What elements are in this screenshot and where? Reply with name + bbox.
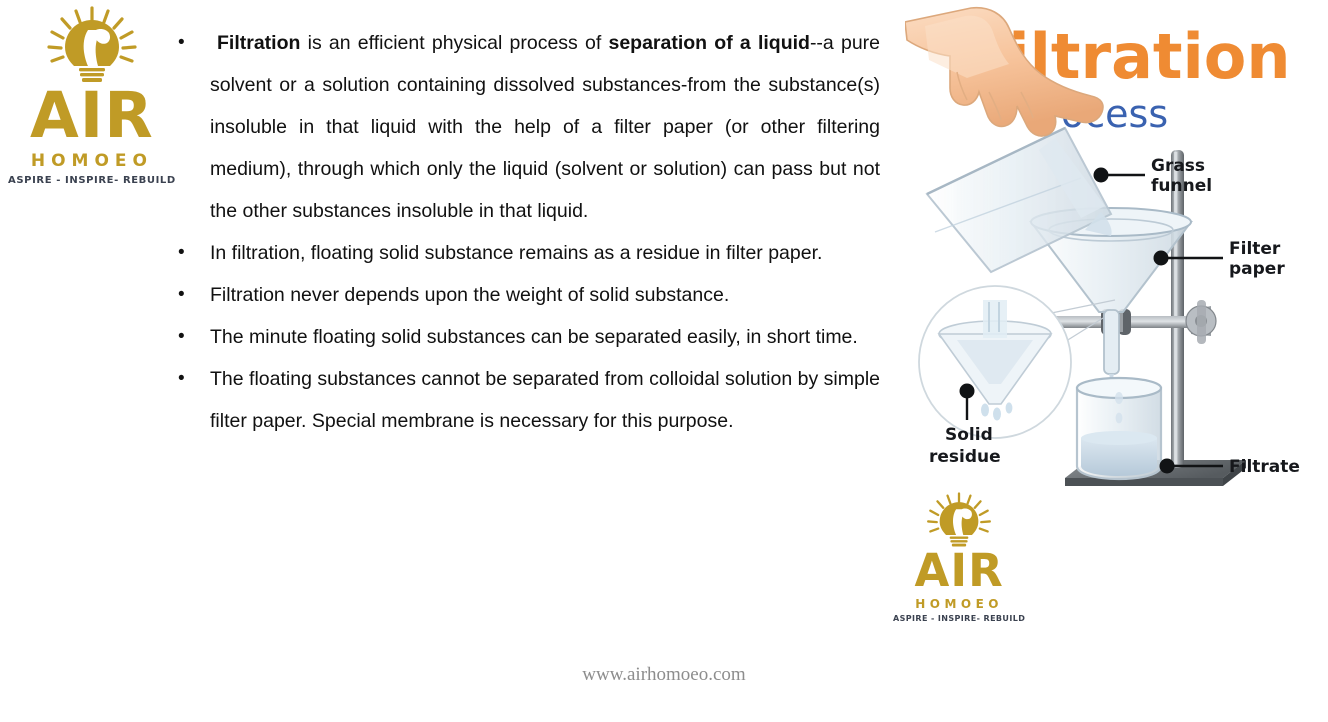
slide-bullet-list: Filtration is an efficient physical proc… xyxy=(168,22,880,442)
bullet-emphasis: Filtration xyxy=(217,32,300,54)
callout-solid-residue-line2: residue xyxy=(929,447,1001,467)
bullet-item-definition: Filtration is an efficient physical proc… xyxy=(168,22,880,232)
bullet-text: The floating substances cannot be separa… xyxy=(210,368,880,432)
brand-name: AIR xyxy=(30,84,154,147)
callout-filter-paper-line1: Filter xyxy=(1229,239,1281,259)
stand-vertical-rod xyxy=(1171,150,1184,468)
callout-glass-funnel: Grass funnel xyxy=(1094,156,1213,196)
bullet-item-residue: In filtration, floating solid substance … xyxy=(168,232,880,274)
callout-glass-funnel-line2: funnel xyxy=(1151,176,1212,196)
callout-solid-residue-line1: Solid xyxy=(945,425,993,445)
bullet-text: --a pure solvent or a solution containin… xyxy=(210,32,880,222)
bullet-text: is an efficient physical process of xyxy=(300,32,608,54)
brand-name: AIR xyxy=(915,548,1004,593)
callout-filter-paper-line2: paper xyxy=(1229,259,1285,279)
brand-logo-bottom: AIR HOMOEO ASPIRE - INSPIRE- REBUILD xyxy=(893,492,1025,623)
brand-subname: HOMOEO xyxy=(31,153,153,170)
lightbulb-with-hand-icon xyxy=(916,492,1002,548)
brand-tagline: ASPIRE - INSPIRE- REBUILD xyxy=(8,176,176,186)
bullet-item-minute-substances: The minute floating solid substances can… xyxy=(168,316,880,358)
bullet-item-weight: Filtration never depends upon the weight… xyxy=(168,274,880,316)
callout-filtrate-line1: Filtrate xyxy=(1229,457,1300,477)
bullet-text: In filtration, floating solid substance … xyxy=(210,242,822,264)
lightbulb-with-hand-icon xyxy=(32,6,152,84)
brand-logo-top: AIR HOMOEO ASPIRE - INSPIRE- REBUILD xyxy=(8,6,176,186)
bullet-text: The minute floating solid substances can… xyxy=(210,326,858,348)
collection-beaker xyxy=(1077,378,1161,479)
bullet-item-colloidal: The floating substances cannot be separa… xyxy=(168,358,880,442)
brand-tagline: ASPIRE - INSPIRE- REBUILD xyxy=(893,615,1025,623)
filtration-process-illustration: Filtration Process xyxy=(905,0,1328,500)
bullet-emphasis: separation of a liquid xyxy=(608,32,809,54)
brand-subname: HOMOEO xyxy=(915,598,1003,610)
callout-glass-funnel-line1: Grass xyxy=(1151,156,1205,176)
bullet-text: Filtration never depends upon the weight… xyxy=(210,284,729,306)
footer-website-url: www.airhomoeo.com xyxy=(0,664,1328,686)
